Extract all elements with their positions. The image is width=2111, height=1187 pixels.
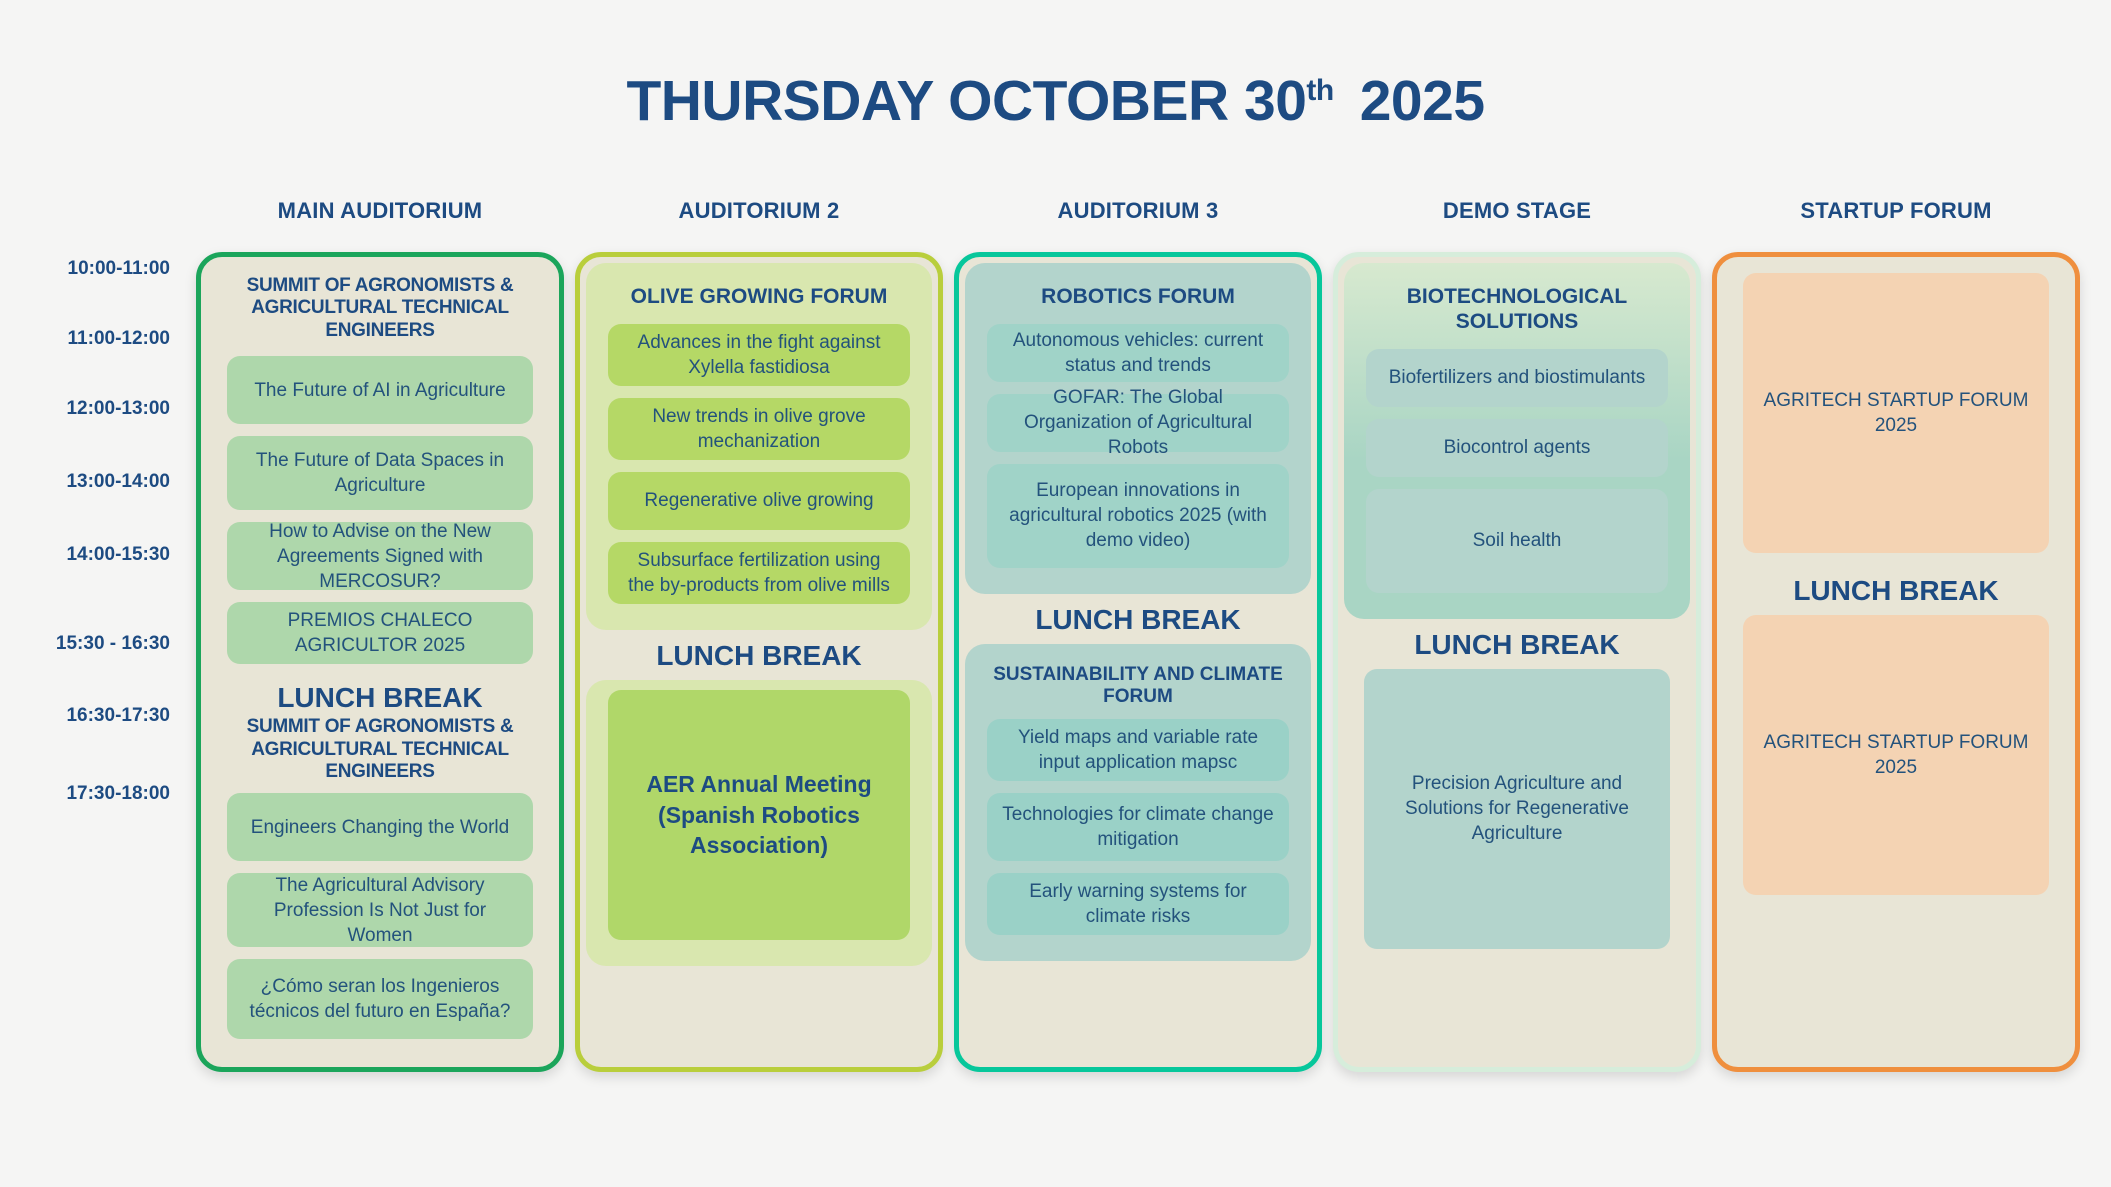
- track-aud2-afternoon-panel: AER Annual Meeting (Spanish Robotics Ass…: [586, 680, 932, 966]
- track-aud3-morning-panel: ROBOTICS FORUM Autonomous vehicles: curr…: [965, 263, 1311, 594]
- session-card[interactable]: Subsurface fertilization using the by-pr…: [608, 542, 910, 604]
- session-card[interactable]: PREMIOS CHALECO AGRICULTOR 2025: [227, 602, 533, 664]
- time-slot-1530-1630: 15:30 - 16:30: [0, 633, 196, 655]
- time-slot-1630-1730: 16:30-17:30: [0, 705, 196, 727]
- track-demo-afternoon-panel: Precision Agriculture and Solutions for …: [1344, 669, 1690, 949]
- session-card[interactable]: Early warning systems for climate risks: [987, 873, 1289, 935]
- track-header-auditorium-3: AUDITORIUM 3: [954, 198, 1322, 224]
- forum-title-biotechnological-solutions: BIOTECHNOLOGICAL SOLUTIONS: [1356, 273, 1678, 349]
- page-title-year: 2025: [1360, 69, 1485, 133]
- forum-title-summit-afternoon: SUMMIT OF AGRONOMISTS & AGRICULTURAL TEC…: [207, 716, 553, 793]
- session-card[interactable]: Technologies for climate change mitigati…: [987, 793, 1289, 861]
- session-card[interactable]: How to Advise on the New Agreements Sign…: [227, 522, 533, 590]
- lunch-break-label-main: LUNCH BREAK: [207, 676, 553, 716]
- session-card[interactable]: Precision Agriculture and Solutions for …: [1364, 669, 1670, 949]
- time-slot-10-11: 10:00-11:00: [0, 258, 196, 280]
- session-card[interactable]: Regenerative olive growing: [608, 472, 910, 530]
- time-slot-14-1530: 14:00-15:30: [0, 544, 196, 566]
- session-card[interactable]: AGRITECH STARTUP FORUM 2025: [1743, 615, 2049, 895]
- page-title: THURSDAY OCTOBER 30th2025: [0, 68, 2111, 134]
- session-card[interactable]: AER Annual Meeting (Spanish Robotics Ass…: [608, 690, 910, 940]
- session-card[interactable]: New trends in olive grove mechanization: [608, 398, 910, 460]
- forum-title-summit-morning: SUMMIT OF AGRONOMISTS & AGRICULTURAL TEC…: [217, 263, 543, 356]
- lunch-break-label-demo: LUNCH BREAK: [1344, 619, 1690, 669]
- track-startup-morning-panel: AGRITECH STARTUP FORUM 2025: [1723, 263, 2069, 553]
- session-card[interactable]: Biofertilizers and biostimulants: [1366, 349, 1668, 407]
- track-header-main-auditorium: MAIN AUDITORIUM: [196, 198, 564, 224]
- lunch-break-label-aud2: LUNCH BREAK: [586, 630, 932, 680]
- forum-title-robotics: ROBOTICS FORUM: [977, 273, 1299, 324]
- session-card[interactable]: GOFAR: The Global Organization of Agricu…: [987, 394, 1289, 452]
- session-card[interactable]: ¿Cómo seran los Ingenieros técnicos del …: [227, 959, 533, 1039]
- session-card[interactable]: European innovations in agricultural rob…: [987, 464, 1289, 568]
- session-card[interactable]: The Agricultural Advisory Profession Is …: [227, 873, 533, 947]
- spacer: [1733, 263, 2059, 273]
- track-headers-row: MAIN AUDITORIUM AUDITORIUM 2 AUDITORIUM …: [196, 198, 2080, 224]
- time-slot-1730-18: 17:30-18:00: [0, 783, 196, 805]
- lunch-break-label-aud3: LUNCH BREAK: [965, 594, 1311, 644]
- track-aud3-afternoon-panel: SUSTAINABILITY AND CLIMATE FORUM Yield m…: [965, 644, 1311, 961]
- track-main-morning-panel: SUMMIT OF AGRONOMISTS & AGRICULTURAL TEC…: [207, 263, 553, 664]
- session-card[interactable]: Autonomous vehicles: current status and …: [987, 324, 1289, 382]
- page-title-date: THURSDAY OCTOBER 30: [626, 69, 1306, 133]
- track-column-main-auditorium[interactable]: SUMMIT OF AGRONOMISTS & AGRICULTURAL TEC…: [196, 252, 564, 1072]
- track-header-auditorium-2: AUDITORIUM 2: [575, 198, 943, 224]
- session-card[interactable]: Engineers Changing the World: [227, 793, 533, 861]
- time-slot-11-12: 11:00-12:00: [0, 328, 196, 350]
- session-card[interactable]: Soil health: [1366, 489, 1668, 593]
- track-column-auditorium-3[interactable]: ROBOTICS FORUM Autonomous vehicles: curr…: [954, 252, 1322, 1072]
- track-demo-morning-panel: BIOTECHNOLOGICAL SOLUTIONS Biofertilizer…: [1344, 263, 1690, 619]
- session-card[interactable]: Biocontrol agents: [1366, 419, 1668, 477]
- session-card[interactable]: The Future of AI in Agriculture: [227, 356, 533, 424]
- track-header-demo-stage: DEMO STAGE: [1333, 198, 1701, 224]
- track-column-startup-forum[interactable]: AGRITECH STARTUP FORUM 2025 LUNCH BREAK …: [1712, 252, 2080, 1072]
- session-card[interactable]: Advances in the fight against Xylella fa…: [608, 324, 910, 386]
- track-main-afternoon-panel: Engineers Changing the World The Agricul…: [207, 793, 553, 1039]
- page-title-ordinal-suffix: th: [1306, 74, 1333, 107]
- time-slot-12-13: 12:00-13:00: [0, 398, 196, 420]
- track-startup-afternoon-panel: AGRITECH STARTUP FORUM 2025: [1723, 615, 2069, 895]
- session-card[interactable]: AGRITECH STARTUP FORUM 2025: [1743, 273, 2049, 553]
- time-gutter: 10:00-11:00 11:00-12:00 12:00-13:00 13:0…: [0, 248, 196, 805]
- schedule-grid: SUMMIT OF AGRONOMISTS & AGRICULTURAL TEC…: [196, 252, 2080, 1072]
- track-aud2-morning-panel: OLIVE GROWING FORUM Advances in the figh…: [586, 263, 932, 630]
- lunch-break-label-startup: LUNCH BREAK: [1723, 565, 2069, 615]
- track-column-auditorium-2[interactable]: OLIVE GROWING FORUM Advances in the figh…: [575, 252, 943, 1072]
- track-column-demo-stage[interactable]: BIOTECHNOLOGICAL SOLUTIONS Biofertilizer…: [1333, 252, 1701, 1072]
- time-slot-13-14: 13:00-14:00: [0, 471, 196, 493]
- session-card[interactable]: The Future of Data Spaces in Agriculture: [227, 436, 533, 510]
- session-card[interactable]: Yield maps and variable rate input appli…: [987, 719, 1289, 781]
- track-header-startup-forum: STARTUP FORUM: [1712, 198, 2080, 224]
- forum-title-sustainability-climate: SUSTAINABILITY AND CLIMATE FORUM: [977, 654, 1299, 719]
- forum-title-olive-growing: OLIVE GROWING FORUM: [598, 273, 920, 324]
